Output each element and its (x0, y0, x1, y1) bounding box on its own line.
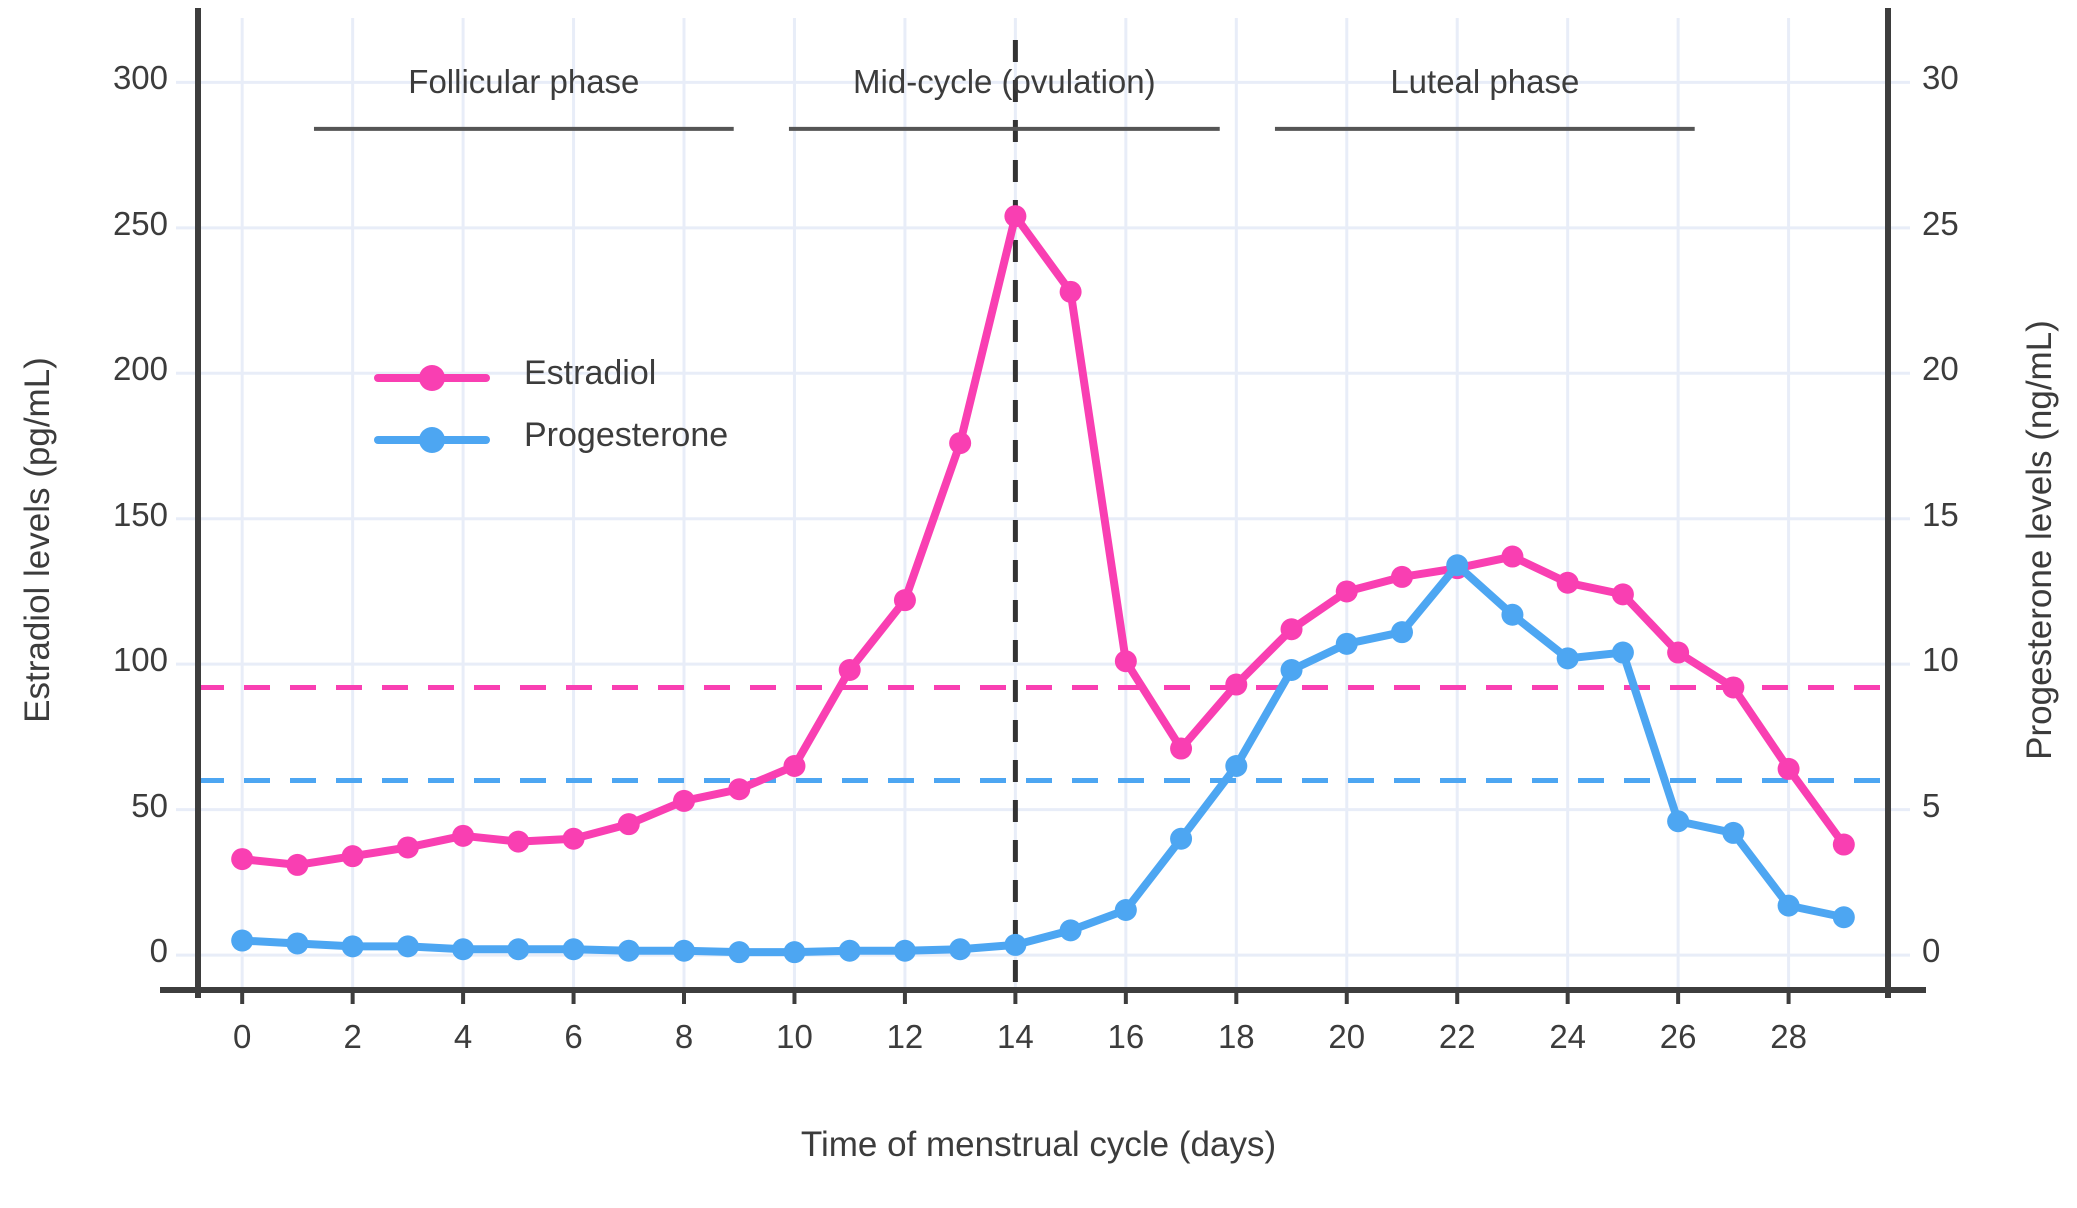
data-point-progesterone-day-14 (1004, 934, 1026, 956)
x-tick-label-6: 6 (514, 1018, 634, 1056)
data-point-estradiol-day-9 (728, 778, 750, 800)
x-tick-label-26: 26 (1618, 1018, 1738, 1056)
legend-label-progesterone: Progesterone (524, 416, 728, 455)
x-tick-label-4: 4 (403, 1018, 523, 1056)
data-point-estradiol-day-13 (949, 432, 971, 454)
y-tick-right-label-20: 20 (1922, 350, 2077, 388)
data-point-estradiol-day-21 (1391, 566, 1413, 588)
data-point-progesterone-day-26 (1667, 810, 1689, 832)
data-point-estradiol-day-2 (342, 845, 364, 867)
series-estradiol (231, 205, 1855, 876)
data-point-progesterone-day-21 (1391, 621, 1413, 643)
data-point-estradiol-day-25 (1612, 583, 1634, 605)
reference-lines (198, 687, 1888, 780)
data-point-estradiol-day-4 (452, 825, 474, 847)
y-tick-left-label-200: 200 (0, 350, 168, 388)
data-point-progesterone-day-0 (231, 930, 253, 952)
y-tick-right-label-0: 0 (1922, 932, 2077, 970)
data-point-progesterone-day-3 (397, 935, 419, 957)
data-point-estradiol-day-15 (1060, 281, 1082, 303)
data-point-estradiol-day-20 (1336, 580, 1358, 602)
data-point-estradiol-day-5 (507, 831, 529, 853)
data-point-estradiol-day-23 (1501, 546, 1523, 568)
data-point-estradiol-day-0 (231, 848, 253, 870)
gridlines (176, 18, 1910, 1002)
data-point-progesterone-day-20 (1336, 633, 1358, 655)
data-point-estradiol-day-14 (1004, 205, 1026, 227)
data-point-estradiol-day-1 (286, 854, 308, 876)
x-tick-label-2: 2 (293, 1018, 413, 1056)
y-tick-right-label-25: 25 (1922, 205, 2077, 243)
data-point-estradiol-day-26 (1667, 642, 1689, 664)
x-tick-label-8: 8 (624, 1018, 744, 1056)
axis-spines (160, 8, 1926, 998)
legend-label-estradiol: Estradiol (524, 354, 656, 393)
data-point-estradiol-day-12 (894, 589, 916, 611)
data-point-progesterone-day-5 (507, 938, 529, 960)
data-point-progesterone-day-29 (1833, 906, 1855, 928)
x-tick-label-12: 12 (845, 1018, 965, 1056)
data-point-progesterone-day-7 (618, 940, 640, 962)
data-point-progesterone-day-22 (1446, 554, 1468, 576)
data-point-estradiol-day-24 (1557, 572, 1579, 594)
data-point-progesterone-day-24 (1557, 647, 1579, 669)
y-tick-left-label-0: 0 (0, 932, 168, 970)
data-point-estradiol-day-29 (1833, 834, 1855, 856)
data-series-layer (231, 205, 1855, 963)
data-point-progesterone-day-25 (1612, 642, 1634, 664)
data-point-progesterone-day-12 (894, 940, 916, 962)
y-tick-right-label-5: 5 (1922, 787, 2077, 825)
x-tick-label-16: 16 (1066, 1018, 1186, 1056)
data-point-estradiol-day-28 (1778, 758, 1800, 780)
x-tick-label-20: 20 (1287, 1018, 1407, 1056)
legend-markers (378, 365, 486, 453)
data-point-progesterone-day-2 (342, 935, 364, 957)
x-tick-label-24: 24 (1508, 1018, 1628, 1056)
data-point-estradiol-day-10 (783, 755, 805, 777)
chart-figure: Estradiol levels (pg/mL) Progesterone le… (0, 0, 2077, 1208)
data-point-progesterone-day-11 (839, 940, 861, 962)
data-point-estradiol-day-17 (1170, 738, 1192, 760)
data-point-progesterone-day-9 (728, 941, 750, 963)
x-tick-label-22: 22 (1397, 1018, 1517, 1056)
data-point-progesterone-day-6 (563, 938, 585, 960)
data-point-progesterone-day-15 (1060, 919, 1082, 941)
x-tick-label-14: 14 (955, 1018, 1075, 1056)
data-point-estradiol-day-6 (563, 828, 585, 850)
data-point-progesterone-day-17 (1170, 828, 1192, 850)
data-point-progesterone-day-18 (1225, 755, 1247, 777)
data-point-progesterone-day-10 (783, 941, 805, 963)
x-tick-label-0: 0 (182, 1018, 302, 1056)
data-point-progesterone-day-23 (1501, 604, 1523, 626)
data-point-estradiol-day-8 (673, 790, 695, 812)
data-point-estradiol-day-11 (839, 659, 861, 681)
y-tick-left-label-150: 150 (0, 496, 168, 534)
y-tick-right-label-15: 15 (1922, 496, 2077, 534)
data-point-estradiol-day-7 (618, 813, 640, 835)
phase-annotation-2: Luteal phase (1065, 63, 1905, 101)
series-progesterone (231, 554, 1855, 963)
data-point-estradiol-day-16 (1115, 650, 1137, 672)
data-point-progesterone-day-16 (1115, 899, 1137, 921)
data-point-progesterone-day-8 (673, 940, 695, 962)
x-tick-label-18: 18 (1176, 1018, 1296, 1056)
y-tick-right-label-30: 30 (1922, 59, 2077, 97)
data-point-progesterone-day-19 (1281, 659, 1303, 681)
y-tick-left-label-100: 100 (0, 641, 168, 679)
y-tick-left-label-50: 50 (0, 787, 168, 825)
y-tick-left-label-250: 250 (0, 205, 168, 243)
x-tick-label-28: 28 (1729, 1018, 1849, 1056)
data-point-progesterone-day-4 (452, 938, 474, 960)
data-point-estradiol-day-18 (1225, 674, 1247, 696)
data-point-estradiol-day-19 (1281, 618, 1303, 640)
data-point-estradiol-day-27 (1722, 676, 1744, 698)
y-tick-right-label-10: 10 (1922, 641, 2077, 679)
x-tick-label-10: 10 (734, 1018, 854, 1056)
data-point-progesterone-day-1 (286, 932, 308, 954)
data-point-progesterone-day-28 (1778, 895, 1800, 917)
data-point-progesterone-day-13 (949, 938, 971, 960)
data-point-progesterone-day-27 (1722, 822, 1744, 844)
data-point-estradiol-day-3 (397, 836, 419, 858)
